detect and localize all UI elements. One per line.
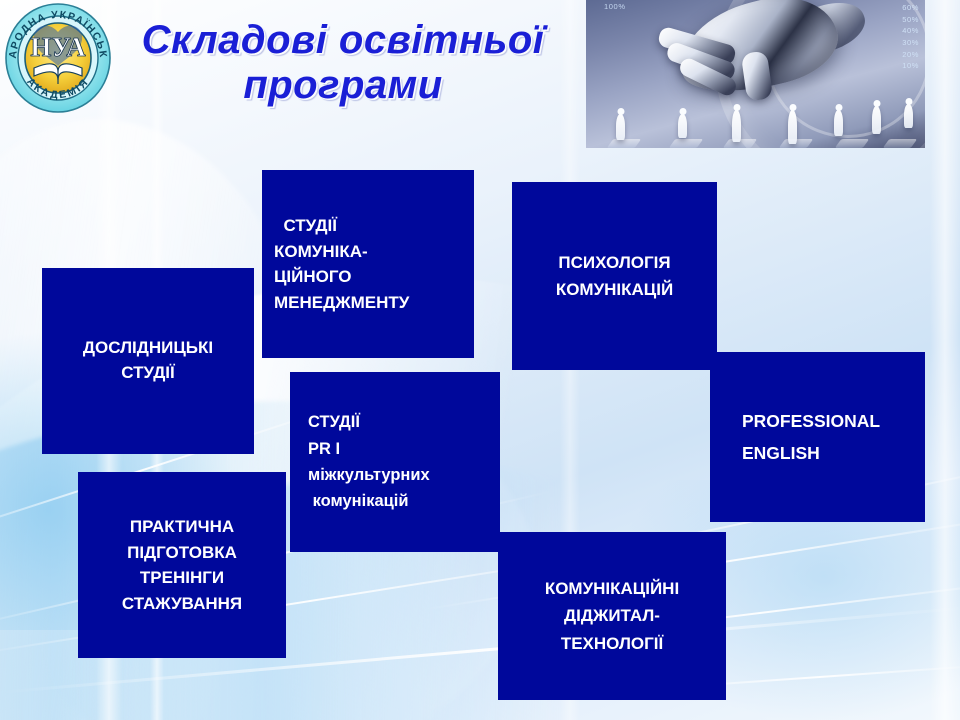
photo-percent-label: 50%: [902, 14, 919, 26]
photo-percent-scale: 60% 50% 40% 30% 20% 10%: [902, 2, 919, 72]
box-line: МЕНЕДЖМЕНТУ: [274, 290, 474, 316]
box-line: СТАЖУВАННЯ: [78, 591, 286, 617]
human-figure: [616, 114, 625, 140]
page-title-line-2: програми: [108, 63, 578, 108]
human-figure: [834, 110, 843, 136]
human-figure: [732, 110, 741, 142]
nua-logo-icon: НУА НАРОДНА УКРАЇНСЬКА АКАДЕМІЯ: [4, 2, 112, 114]
box-line: ДІДЖИТАЛ-: [498, 602, 726, 629]
human-figure: [872, 106, 881, 134]
photo-percent-label: 30%: [902, 37, 919, 49]
box-line: PR І: [308, 436, 500, 462]
program-component-pr-and-intercultural-communications-studies[interactable]: СТУДІЇ PR І міжкультурних комунікацій: [290, 372, 500, 552]
photo-percent-label: 20%: [902, 49, 919, 61]
box-line: комунікацій: [308, 488, 500, 514]
slide-canvas: НУА НАРОДНА УКРАЇНСЬКА АКАДЕМІЯ Складові…: [0, 0, 960, 720]
box-line: ТРЕНІНГИ: [78, 565, 286, 591]
human-figure: [788, 110, 797, 144]
box-line: PROFESSIONAL: [742, 405, 925, 437]
box-line: КОМУНІКА-: [274, 239, 474, 265]
box-line: СТУДІЇ: [308, 409, 500, 435]
floor-tile: [607, 139, 642, 148]
program-component-communication-digital-technologies[interactable]: КОМУНІКАЦІЙНІ ДІДЖИТАЛ- ТЕХНОЛОГІЇ: [498, 532, 726, 700]
human-figure: [678, 114, 687, 138]
page-title: Складові освітньої програми: [108, 18, 578, 108]
program-component-research-studies[interactable]: ДОСЛІДНИЦЬКІ СТУДІЇ: [42, 268, 254, 454]
photo-percent-label: 60%: [902, 2, 919, 14]
robotic-hand-photo: 100% 60% 50% 40% 30% 20% 10%: [586, 0, 925, 148]
page-title-line-1: Складові освітньої: [108, 18, 578, 63]
box-line: ПРАКТИЧНА: [78, 514, 286, 540]
box-line: ПСИХОЛОГІЯ: [512, 249, 717, 276]
program-component-professional-english[interactable]: PROFESSIONAL ENGLISH: [710, 352, 925, 522]
program-component-practical-training[interactable]: ПРАКТИЧНА ПІДГОТОВКА ТРЕНІНГИ СТАЖУВАННЯ: [78, 472, 286, 658]
box-line: ПІДГОТОВКА: [78, 540, 286, 566]
box-line: ЦІЙНОГО: [274, 264, 474, 290]
program-component-communication-management-studies[interactable]: СТУДІЇ КОМУНІКА- ЦІЙНОГО МЕНЕДЖМЕНТУ: [262, 170, 474, 358]
program-component-psychology-of-communications[interactable]: ПСИХОЛОГІЯ КОМУНІКАЦІЙ: [512, 182, 717, 370]
box-line: ENGLISH: [742, 437, 925, 469]
photo-percent-label: 10%: [902, 60, 919, 72]
photo-percent-label: 40%: [902, 25, 919, 37]
box-line: СТУДІЇ: [42, 361, 254, 386]
box-line: СТУДІЇ: [274, 213, 474, 239]
photo-left-label: 100%: [604, 2, 626, 11]
human-figure: [904, 104, 913, 128]
box-line: ДОСЛІДНИЦЬКІ: [42, 336, 254, 361]
box-line: міжкультурних: [308, 462, 500, 488]
box-line: КОМУНІКАЦІЙ: [512, 276, 717, 303]
floor-tile: [669, 139, 704, 148]
box-line: ТЕХНОЛОГІЇ: [498, 630, 726, 657]
box-line: КОМУНІКАЦІЙНІ: [498, 575, 726, 602]
svg-text:НУА: НУА: [30, 32, 86, 62]
background-stripe: [930, 0, 960, 720]
